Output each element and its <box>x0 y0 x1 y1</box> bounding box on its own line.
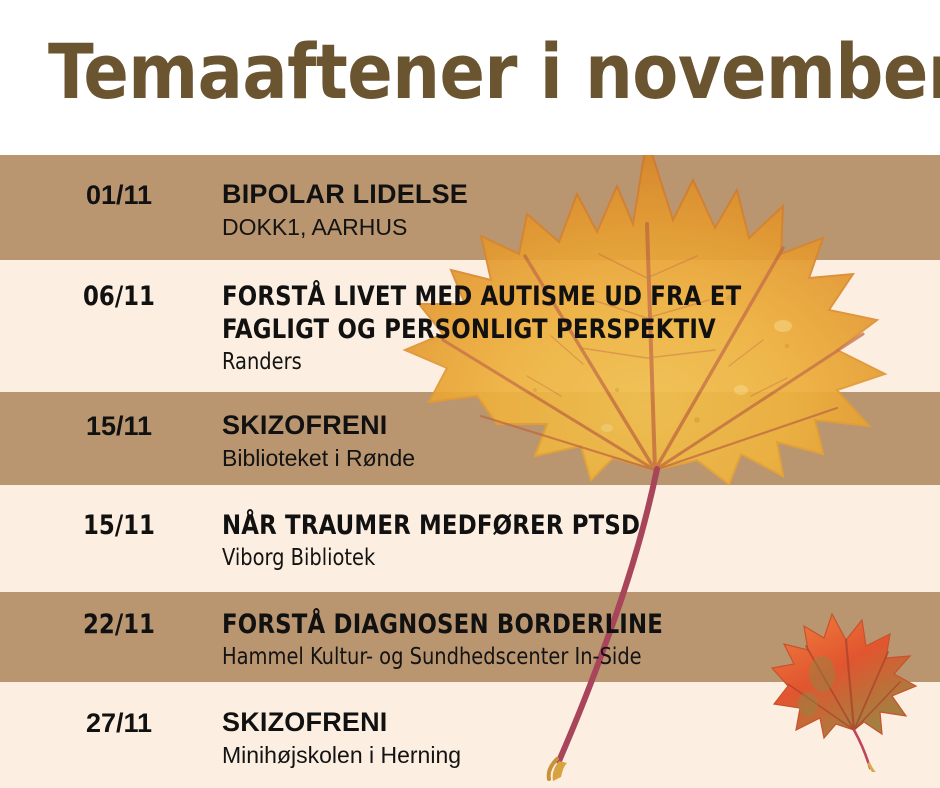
schedule-row-stripe <box>0 592 940 682</box>
poster-header: Temaaftener i november <box>0 0 940 155</box>
page-title: Temaaftener i november <box>48 26 881 118</box>
schedule-row-stripe <box>0 485 940 592</box>
schedule-row-stripe <box>0 392 940 485</box>
schedule-row-stripe <box>0 682 940 788</box>
event-poster: 01/11BIPOLAR LIDELSEDOKK1, AARHUS06/11FO… <box>0 0 940 788</box>
schedule-row-stripe <box>0 155 940 260</box>
schedule-row-stripe <box>0 260 940 392</box>
schedule-stripes <box>0 155 940 788</box>
